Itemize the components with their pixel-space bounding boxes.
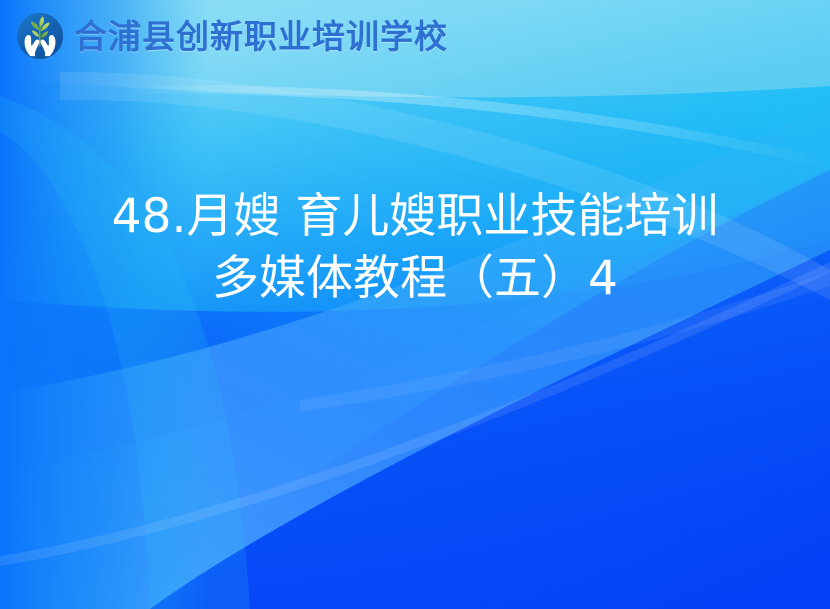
title-slide: 合浦县创新职业培训学校 48.月嫂 育儿嫂职业技能培训 多媒体教程（五）4 [0,0,830,609]
background-highlight-streak [120,85,830,170]
title-line-2: 多媒体教程（五）4 [34,248,796,310]
slide-header: 合浦县创新职业培训学校 [0,0,830,72]
title-line-1: 48.月嫂 育儿嫂职业技能培训 [34,186,796,248]
hands-holding-sprout-logo-icon [16,12,64,60]
school-name: 合浦县创新职业培训学校 [74,20,448,53]
slide-title: 48.月嫂 育儿嫂职业技能培训 多媒体教程（五）4 [0,186,830,310]
background-arc-left [0,96,250,609]
